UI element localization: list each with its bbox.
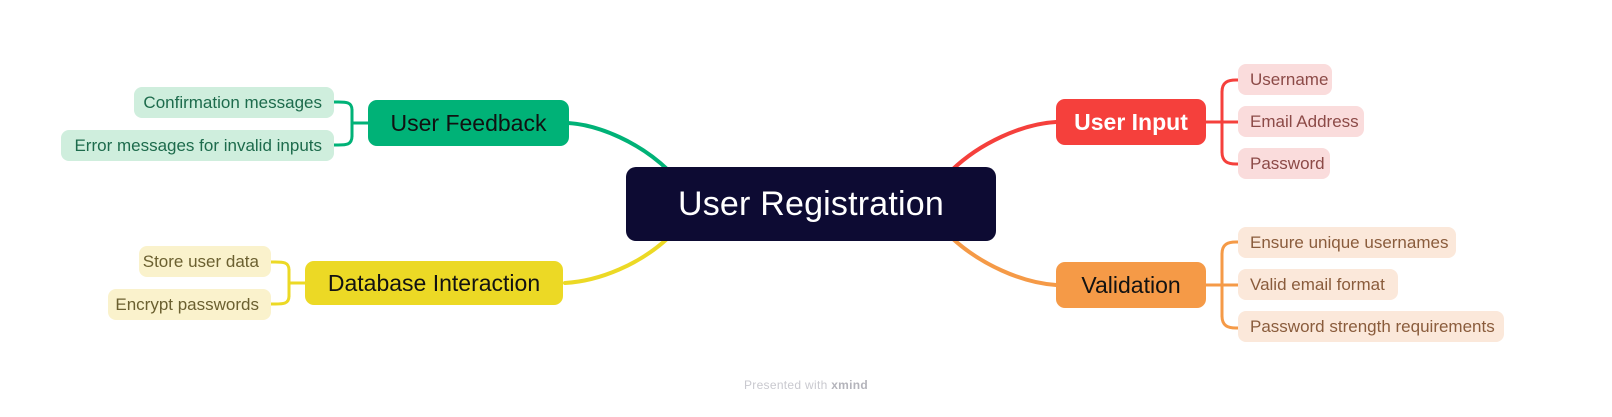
branch-node-label: User Feedback <box>391 110 547 137</box>
leaf-node-label: Password strength requirements <box>1250 317 1495 337</box>
leaf-node-ensure-unique-usernames[interactable]: Ensure unique usernames <box>1238 227 1456 258</box>
leaf-node-label: Password <box>1250 154 1325 174</box>
watermark-prefix: Presented with <box>744 378 831 392</box>
link-root-validation <box>952 238 1056 285</box>
leaf-node-store-user-data[interactable]: Store user data <box>139 246 271 277</box>
leaf-node-label: Valid email format <box>1250 275 1385 295</box>
leaf-node-label: Confirmation messages <box>143 93 322 113</box>
leaf-node-label: Ensure unique usernames <box>1250 233 1448 253</box>
branch-node-label: Validation <box>1081 272 1180 299</box>
link-database-interaction-leaf-0 <box>271 262 289 270</box>
mindmap-canvas: User Registration User Feedback Confirma… <box>0 0 1612 417</box>
leaf-node-username[interactable]: Username <box>1238 64 1332 95</box>
leaf-node-label: Encrypt passwords <box>115 295 259 315</box>
leaf-node-label: Email Address <box>1250 112 1359 132</box>
leaf-node-confirmation-messages[interactable]: Confirmation messages <box>134 87 334 118</box>
leaf-node-encrypt-passwords[interactable]: Encrypt passwords <box>108 289 271 320</box>
branch-node-label: User Input <box>1074 109 1188 136</box>
branch-node-user-input[interactable]: User Input <box>1056 99 1206 145</box>
branch-node-label: Database Interaction <box>328 270 540 297</box>
leaf-node-email-address[interactable]: Email Address <box>1238 106 1364 137</box>
leaf-node-password-strength-requirements[interactable]: Password strength requirements <box>1238 311 1504 342</box>
leaf-node-error-messages-for-invalid-inputs[interactable]: Error messages for invalid inputs <box>61 130 334 161</box>
leaf-node-password[interactable]: Password <box>1238 148 1330 179</box>
link-database-interaction-leaf-1 <box>271 296 289 304</box>
watermark-brand: xmind <box>831 378 868 392</box>
leaf-node-label: Username <box>1250 70 1328 90</box>
root-node-label: User Registration <box>678 185 944 224</box>
link-root-user-feedback <box>568 123 668 170</box>
link-root-user-input <box>952 122 1056 170</box>
link-user-feedback-leaf-1 <box>334 136 352 145</box>
root-node-user-registration[interactable]: User Registration <box>626 167 996 241</box>
leaf-node-label: Error messages for invalid inputs <box>74 136 322 156</box>
watermark: Presented with xmind <box>0 378 1612 392</box>
leaf-node-label: Store user data <box>143 252 259 272</box>
link-root-database-interaction <box>565 238 668 283</box>
link-user-feedback-leaf-0 <box>334 102 352 110</box>
branch-node-database-interaction[interactable]: Database Interaction <box>305 261 563 305</box>
branch-node-validation[interactable]: Validation <box>1056 262 1206 308</box>
leaf-node-valid-email-format[interactable]: Valid email format <box>1238 269 1398 300</box>
branch-node-user-feedback[interactable]: User Feedback <box>368 100 569 146</box>
